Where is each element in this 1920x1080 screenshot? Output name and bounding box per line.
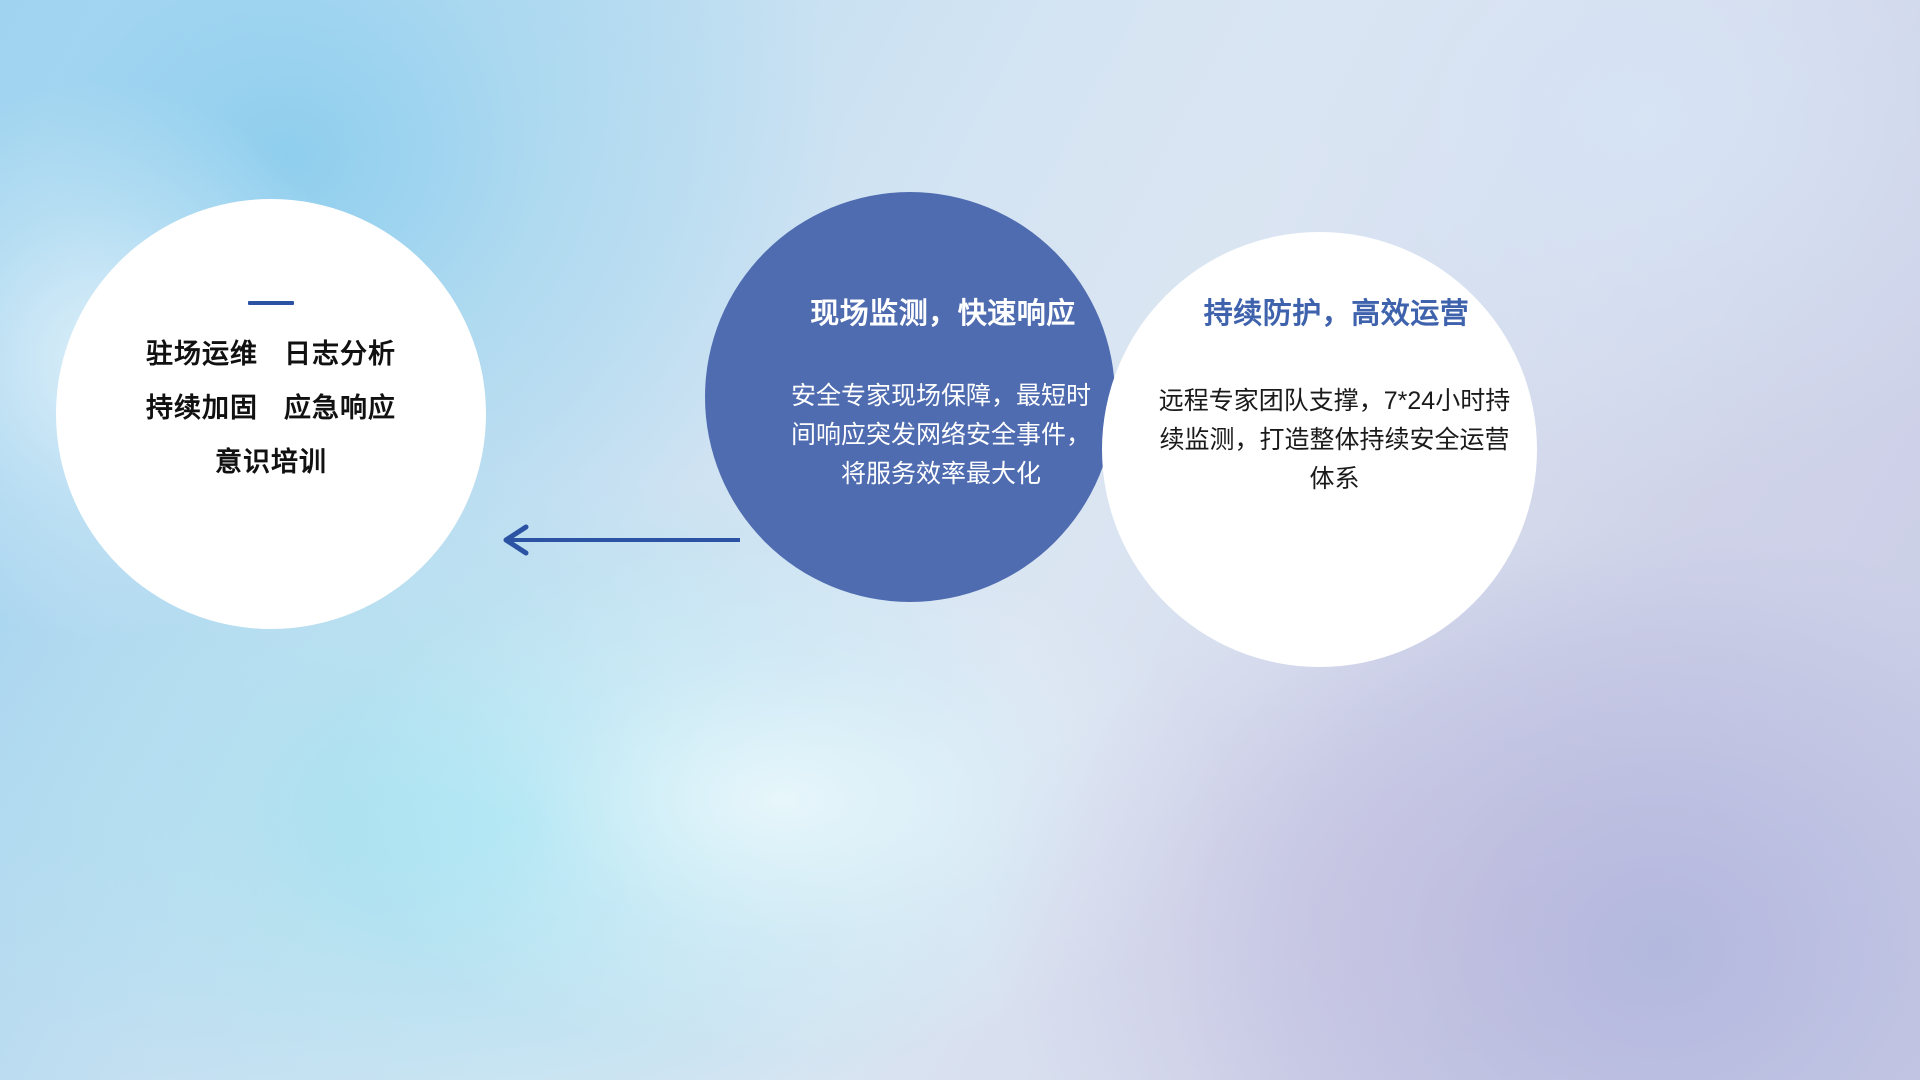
middle-circle-shape[interactable]: [705, 192, 1115, 602]
slide-canvas: 现场监测，快速响应 安全专家现场保障，最短时间响应突发网络安全事件，将服务效率最…: [0, 0, 1920, 1080]
capability-label-1b: 日志分析: [284, 339, 396, 369]
right-circle-title: 持续防护，高效运营: [1204, 290, 1470, 332]
capability-row-2: 持续加固应急响应: [146, 395, 396, 422]
capability-row-1: 驻场运维日志分析: [146, 341, 396, 368]
capability-row-3: 意识培训: [215, 449, 327, 476]
capability-label-3a: 意识培训: [215, 447, 327, 477]
capability-label-1a: 驻场运维: [146, 339, 258, 369]
right-circle-content: 持续防护，高效运营 远程专家团队支撑，7*24小时持续监测，打造整体持续安全运营…: [1102, 232, 1537, 667]
capability-label-2b: 应急响应: [284, 393, 396, 423]
capability-label-2a: 持续加固: [146, 393, 258, 423]
right-circle-body: 远程专家团队支撑，7*24小时持续监测，打造整体持续安全运营体系: [1155, 382, 1515, 499]
divider-line: [248, 301, 294, 305]
left-circle-content: 驻场运维日志分析 持续加固应急响应 意识培训: [56, 199, 486, 629]
leftward-arrow-icon: [492, 523, 742, 557]
